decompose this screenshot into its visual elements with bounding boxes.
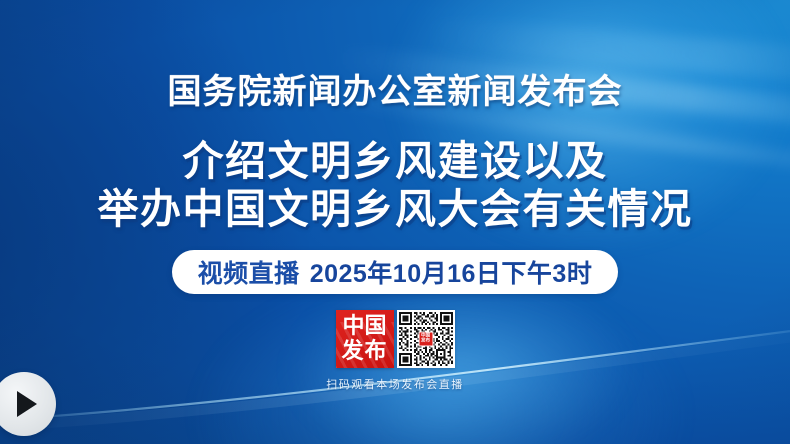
qr-code[interactable]: 中国 发布: [397, 310, 455, 368]
main-headline-line-1: 介绍文明乡风建设以及: [98, 137, 693, 185]
qr-center-line-2: 发布: [421, 339, 430, 344]
live-badge-time: 2025年10月16日下午3时: [310, 254, 593, 290]
page-title: 国务院新闻办公室新闻发布会: [168, 64, 623, 113]
logo-line-2: 发布: [341, 339, 387, 364]
scan-block: 中国 发布: [326, 310, 464, 392]
main-headline: 介绍文明乡风建设以及 举办中国文明乡风大会有关情况: [98, 137, 693, 234]
live-badge-label: 视频直播: [198, 254, 300, 290]
live-broadcast-badge: 视频直播 2025年10月16日下午3时: [172, 250, 619, 294]
play-icon: [17, 391, 37, 417]
qr-center-logo: 中国 发布: [418, 331, 433, 346]
logo-line-1: 中国: [342, 314, 386, 339]
china-release-logo: 中国 发布: [336, 310, 394, 368]
video-poster-frame: 国务院新闻办公室新闻发布会 介绍文明乡风建设以及 举办中国文明乡风大会有关情况 …: [0, 0, 790, 444]
scan-caption: 扫码观看本场发布会直播: [326, 376, 464, 392]
main-headline-line-2: 举办中国文明乡风大会有关情况: [98, 185, 693, 233]
scan-row: 中国 发布: [336, 310, 455, 368]
